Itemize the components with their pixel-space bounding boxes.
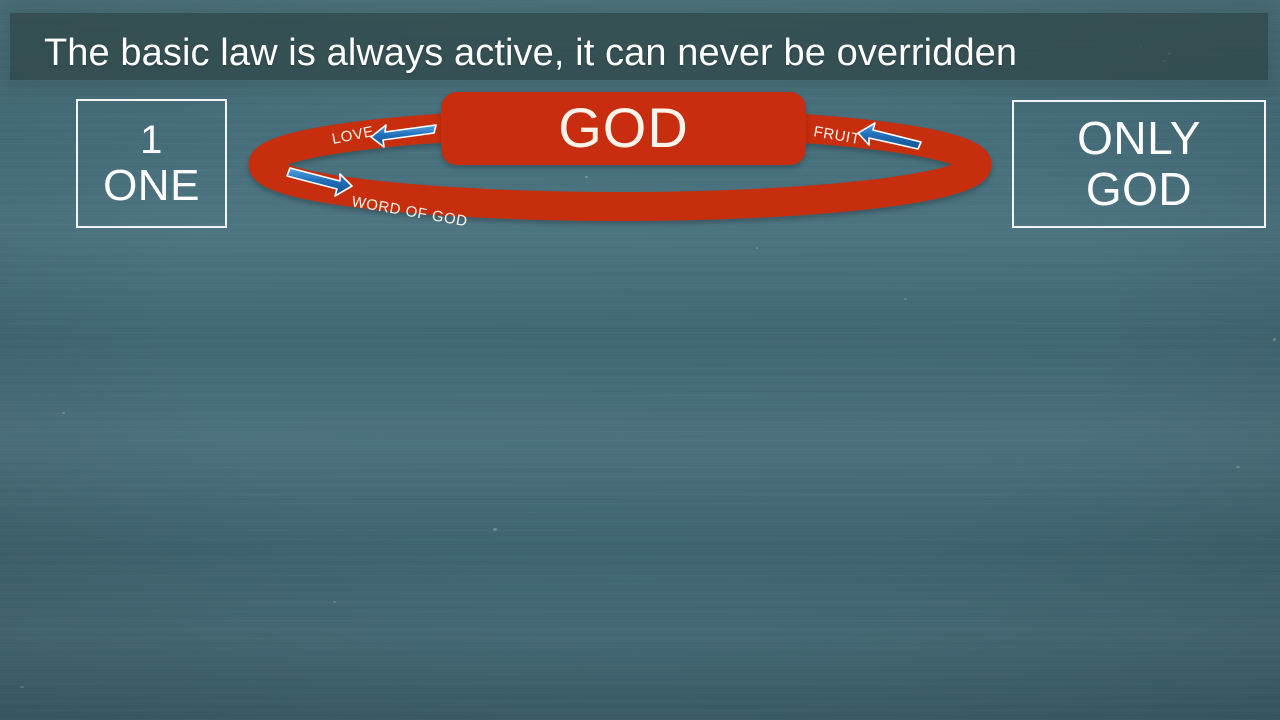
caption-right-line-1: ONLY — [1077, 113, 1201, 163]
ring-label-love: LOVE — [331, 123, 376, 148]
dust-speck — [756, 247, 758, 249]
caption-left-line-1: 1 — [140, 118, 163, 162]
dust-speck — [493, 528, 497, 531]
dust-speck — [20, 686, 24, 688]
title-banner: The basic law is always active, it can n… — [10, 13, 1268, 80]
arrow-word-of-god — [287, 168, 352, 196]
dust-speck — [904, 298, 907, 300]
dust-speck — [585, 176, 588, 178]
god-plate: GOD — [441, 92, 806, 165]
caption-right-line-2: GOD — [1086, 163, 1192, 215]
dust-speck — [62, 412, 65, 414]
caption-left-line-2: ONE — [103, 162, 200, 210]
arrow-fruit — [858, 123, 921, 149]
caption-box-one: 1 ONE — [76, 99, 227, 228]
ring-label-fruit: FRUIT — [812, 123, 861, 148]
god-plate-label: GOD — [558, 99, 689, 157]
page-title: The basic law is always active, it can n… — [44, 31, 1017, 75]
ring-label-word-of-god: WORD OF GOD — [350, 193, 469, 230]
arrow-love — [371, 125, 436, 147]
caption-box-only-god: ONLY GOD — [1012, 100, 1266, 228]
dust-speck — [1236, 466, 1240, 468]
dust-speck — [333, 601, 336, 603]
slide-canvas: The basic law is always active, it can n… — [0, 0, 1280, 720]
dust-speck — [1273, 338, 1276, 341]
